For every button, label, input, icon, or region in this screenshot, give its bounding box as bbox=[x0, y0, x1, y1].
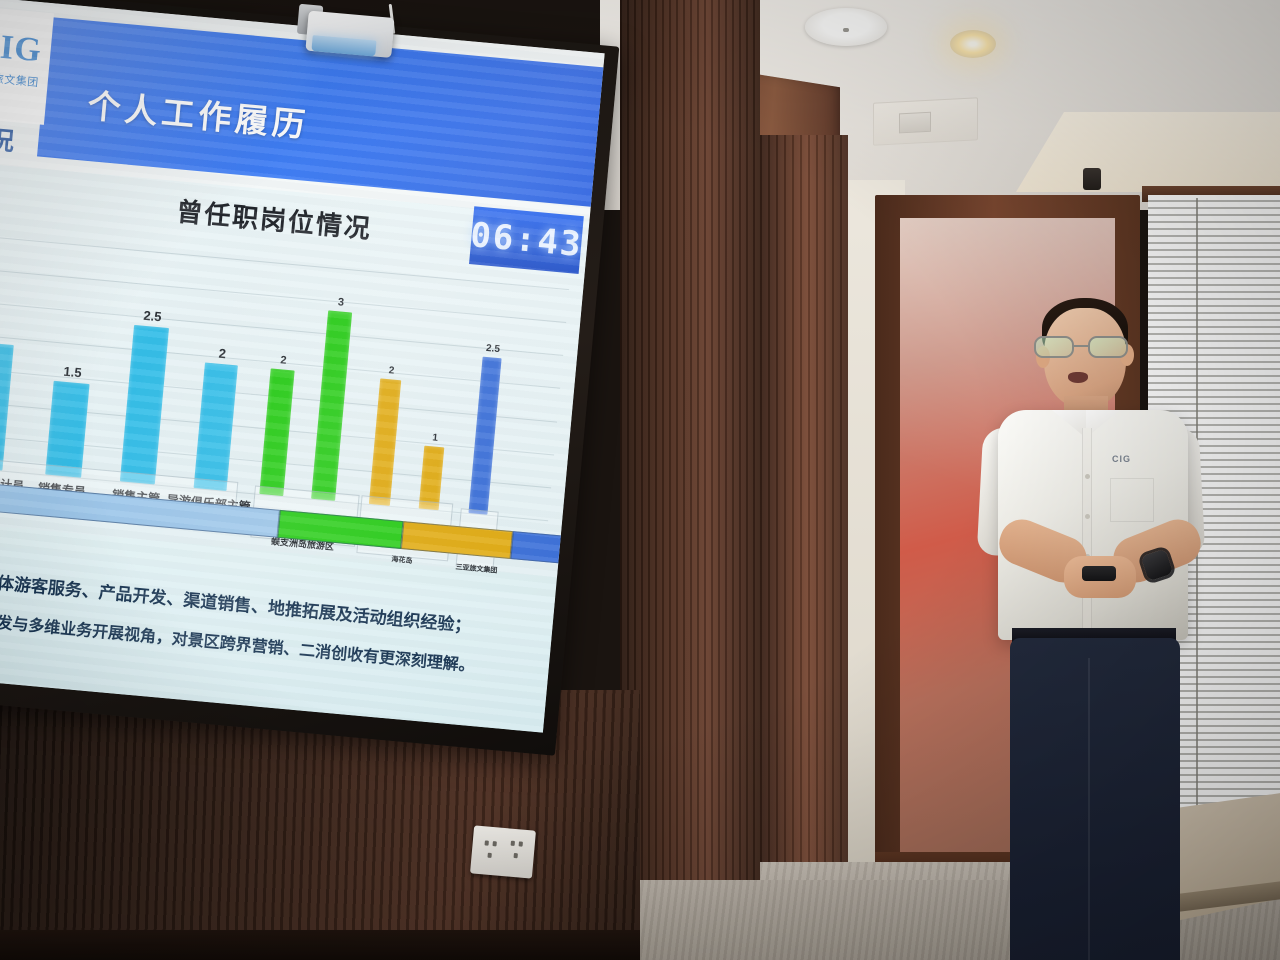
chart-panel: 曾任职岗位情况 06:43 2景区数据统计员1.5销售专员2.5销售主管2导游俱… bbox=[0, 162, 590, 577]
shirt-button bbox=[1085, 514, 1090, 519]
presenter-head bbox=[1044, 308, 1126, 408]
chart-bars: 2景区数据统计员1.5销售专员2.5销售主管2导游俱乐部主管2销售主管3销售部副… bbox=[0, 235, 569, 520]
presenter-clicker-icon bbox=[1082, 566, 1116, 581]
bar-value-label: 2 bbox=[263, 353, 304, 369]
bar-value-label: 2 bbox=[197, 344, 247, 363]
track-spotlight-icon bbox=[1083, 168, 1101, 190]
presenter: CIG bbox=[960, 278, 1240, 960]
projector-icon bbox=[295, 0, 400, 68]
slide-kicker: 情况 bbox=[0, 118, 16, 158]
ceiling-speaker-icon bbox=[805, 8, 887, 46]
power-outlet-icon[interactable] bbox=[470, 825, 536, 878]
wood-wall-panel-right bbox=[760, 135, 848, 960]
chart-plot-area: 2景区数据统计员1.5销售专员2.5销售主管2导游俱乐部主管2销售主管3销售部副… bbox=[0, 215, 571, 520]
bar bbox=[311, 311, 352, 501]
air-vent-icon bbox=[873, 97, 978, 146]
presenter-mouth bbox=[1068, 372, 1088, 383]
wood-wall-panel-left bbox=[620, 0, 760, 960]
bar bbox=[468, 356, 501, 514]
bar bbox=[259, 369, 294, 497]
bar-value-label: 3 bbox=[321, 295, 362, 311]
bar-value-label: 2.5 bbox=[126, 306, 178, 326]
bar bbox=[120, 324, 169, 484]
presentation-display[interactable]: 个人工作履历 CIG 三亚旅文集团 情况 曾任职岗位情况 06:43 bbox=[0, 0, 623, 784]
glasses-bridge bbox=[1074, 345, 1088, 347]
bar bbox=[194, 363, 238, 491]
bar-value-label: 2 bbox=[0, 323, 23, 343]
shirt-button bbox=[1085, 474, 1090, 479]
logo-text: CIG bbox=[0, 26, 50, 71]
group-label: 三亚旅文集团 bbox=[455, 562, 494, 575]
timer-value: 06:43 bbox=[469, 215, 585, 265]
bar-value-label: 1.5 bbox=[46, 362, 99, 382]
baseboard bbox=[0, 930, 640, 960]
bar bbox=[369, 378, 401, 505]
logo-subtitle: 三亚旅文集团 bbox=[0, 68, 46, 91]
downlight-icon bbox=[950, 30, 996, 58]
bar bbox=[45, 380, 89, 477]
lens-right bbox=[1088, 336, 1128, 358]
trouser-crease bbox=[1088, 658, 1090, 960]
shirt-pocket bbox=[1110, 478, 1154, 522]
lens-left bbox=[1034, 336, 1074, 358]
screenshot-root: 个人工作履历 CIG 三亚旅文集团 情况 曾任职岗位情况 06:43 bbox=[0, 0, 1280, 960]
bar bbox=[0, 342, 14, 471]
bar-value-label: 2 bbox=[373, 364, 411, 378]
shirt-logo-text: CIG bbox=[1112, 454, 1131, 464]
slide: 个人工作履历 CIG 三亚旅文集团 情况 曾任职岗位情况 06:43 bbox=[0, 0, 605, 733]
shirt-placket bbox=[1082, 428, 1092, 628]
eyeglasses-icon bbox=[1034, 336, 1134, 358]
bar-value-label: 1 bbox=[417, 431, 454, 445]
display-surface[interactable]: 个人工作履历 CIG 三亚旅文集团 情况 曾任职岗位情况 06:43 bbox=[0, 0, 605, 733]
presenter-trousers bbox=[1010, 638, 1180, 960]
bar-value-label: 2.5 bbox=[475, 342, 511, 356]
